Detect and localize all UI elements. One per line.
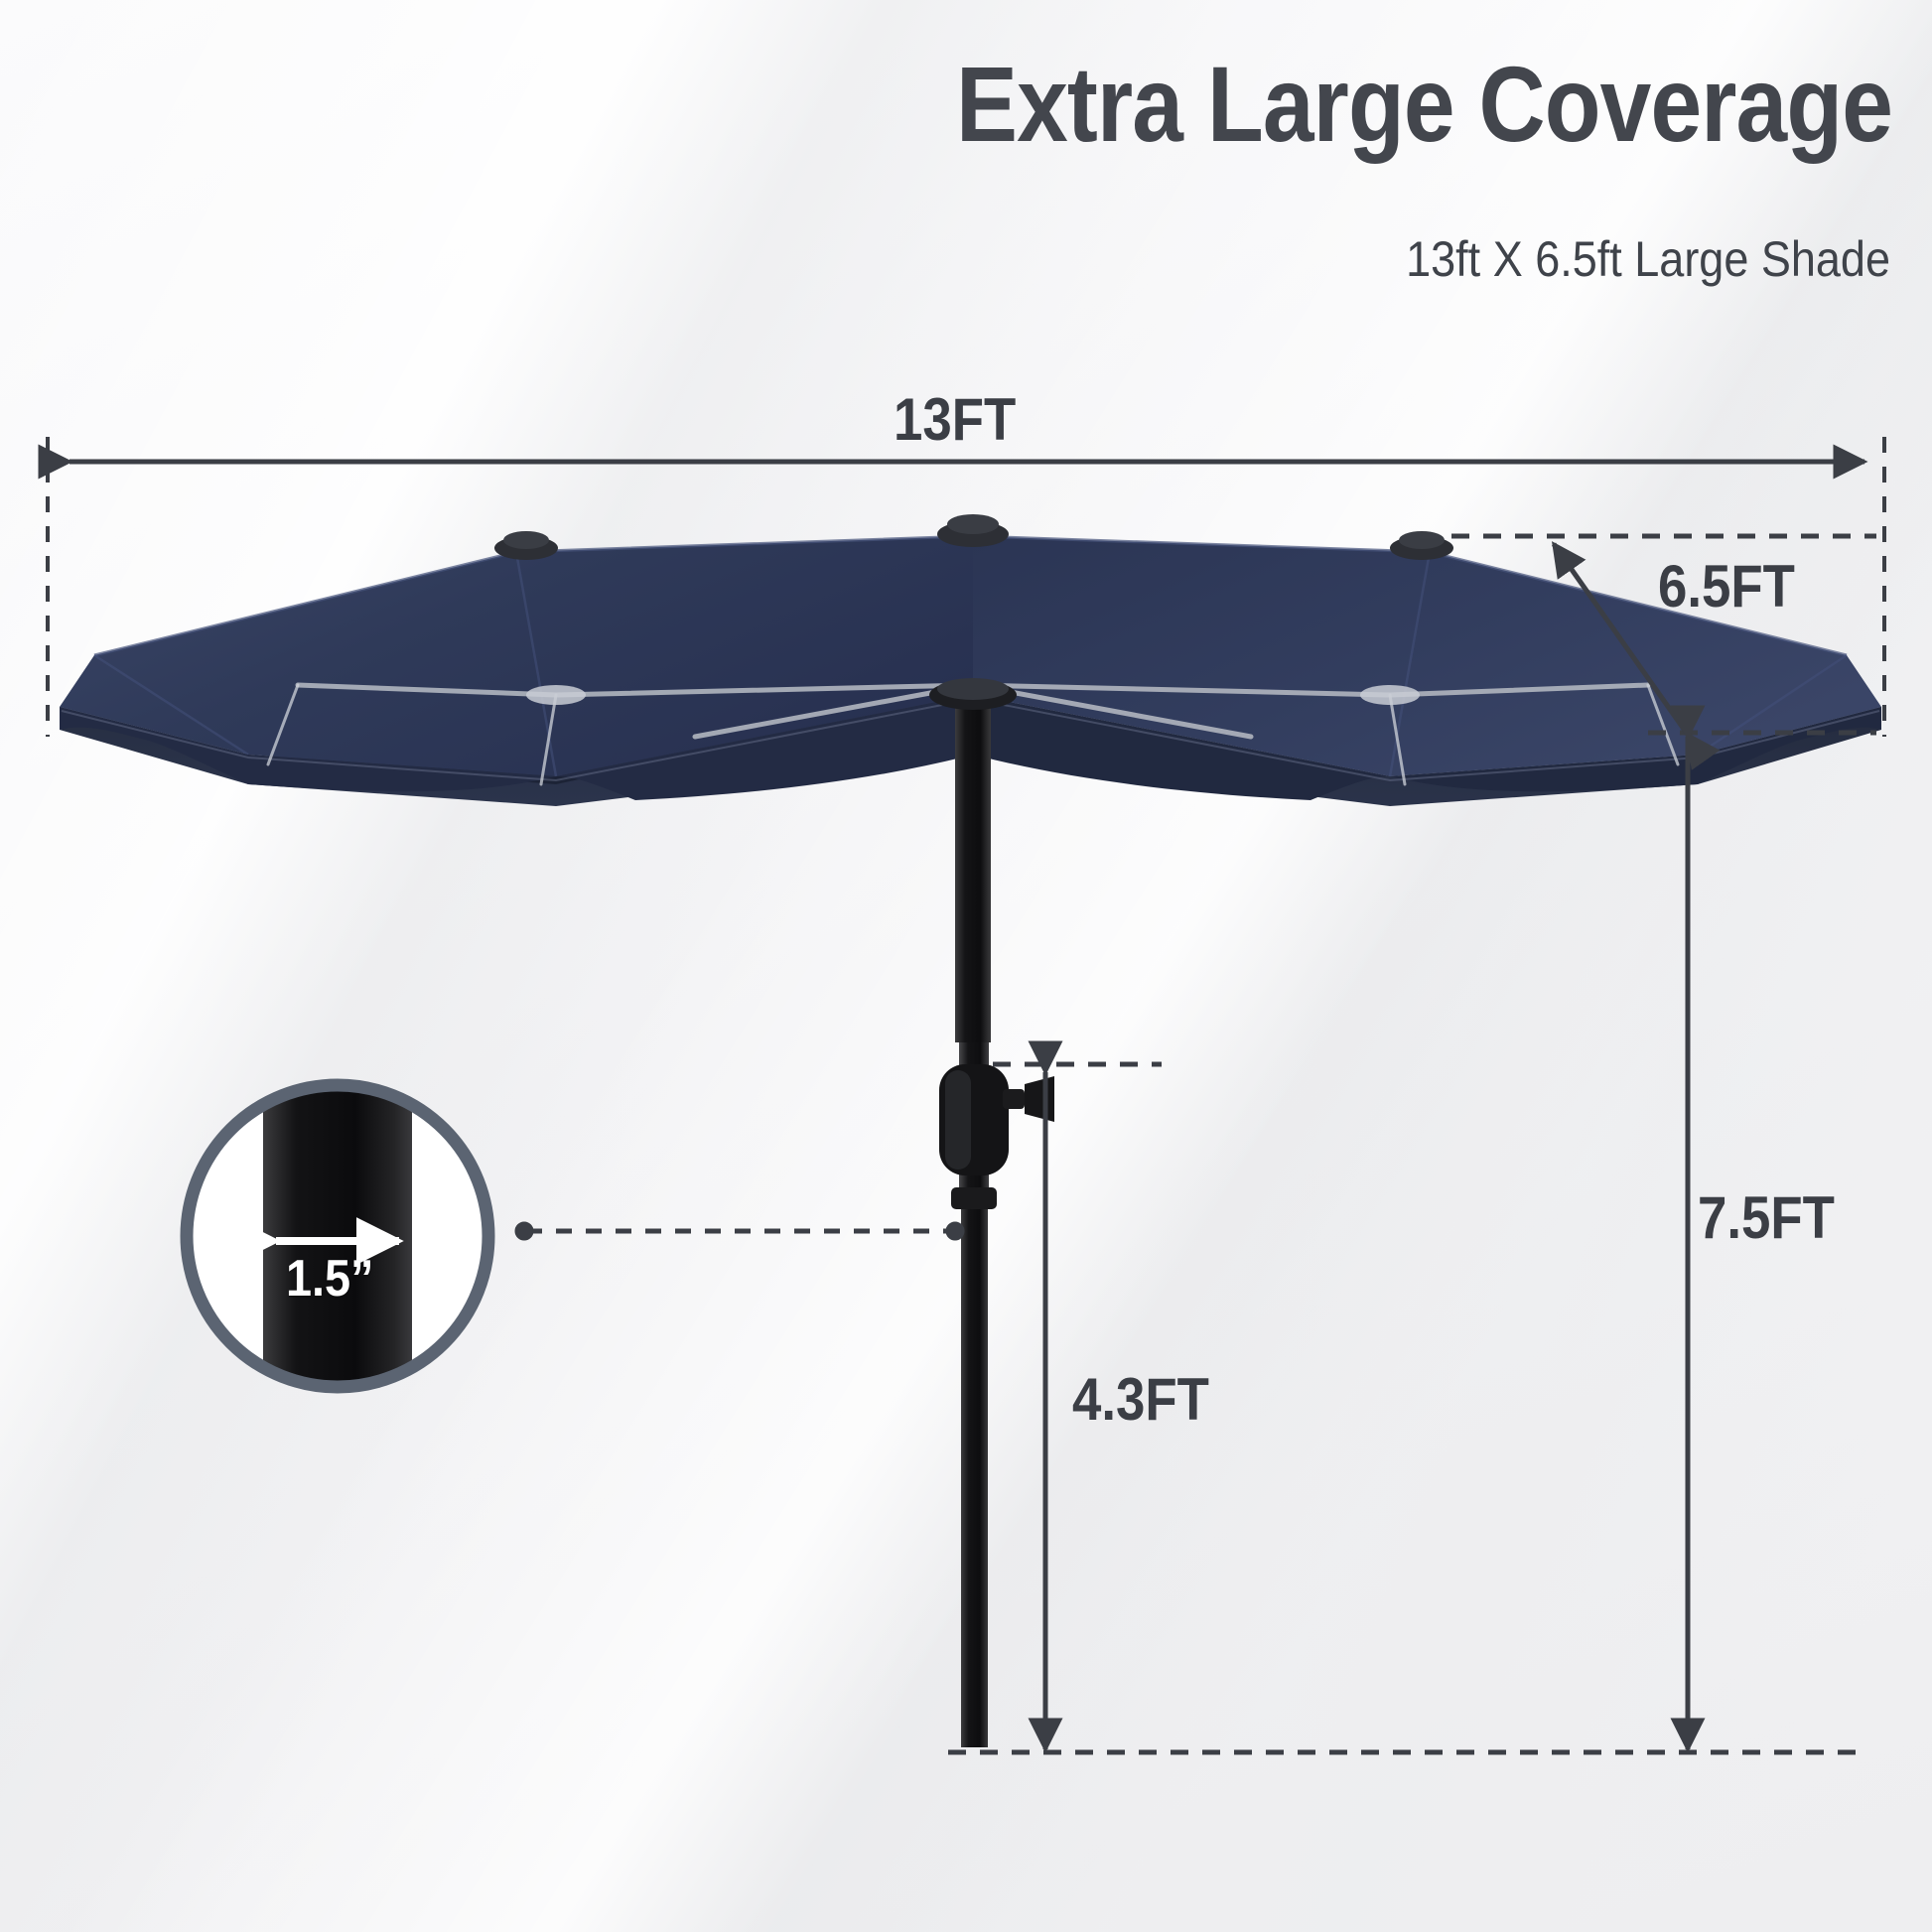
infographic-canvas: Extra Large Coverage 13ft X 6.5ft Large …: [0, 0, 1932, 1932]
page-subtitle: 13ft X 6.5ft Large Shade: [818, 230, 1890, 288]
product-illustration: [0, 0, 1932, 1932]
callout-label-pole-diameter: 1.5”: [286, 1249, 373, 1309]
dimension-label-clearance: 4.3FT: [1072, 1365, 1209, 1434]
crank-housing: [939, 1064, 1054, 1175]
callout-leader: [515, 1222, 964, 1240]
page-title: Extra Large Coverage: [697, 48, 1892, 160]
rib-hub-right: [1360, 685, 1420, 705]
finial-center: [937, 514, 1009, 547]
rib-hub-left: [526, 685, 586, 705]
pole-diameter-callout: [187, 1067, 964, 1410]
center-pole: [929, 678, 1017, 1747]
dimension-label-depth: 6.5FT: [1658, 552, 1795, 621]
finial-left: [494, 531, 558, 560]
dimension-label-width: 13FT: [894, 385, 1016, 454]
dimension-label-height: 7.5FT: [1698, 1183, 1835, 1252]
